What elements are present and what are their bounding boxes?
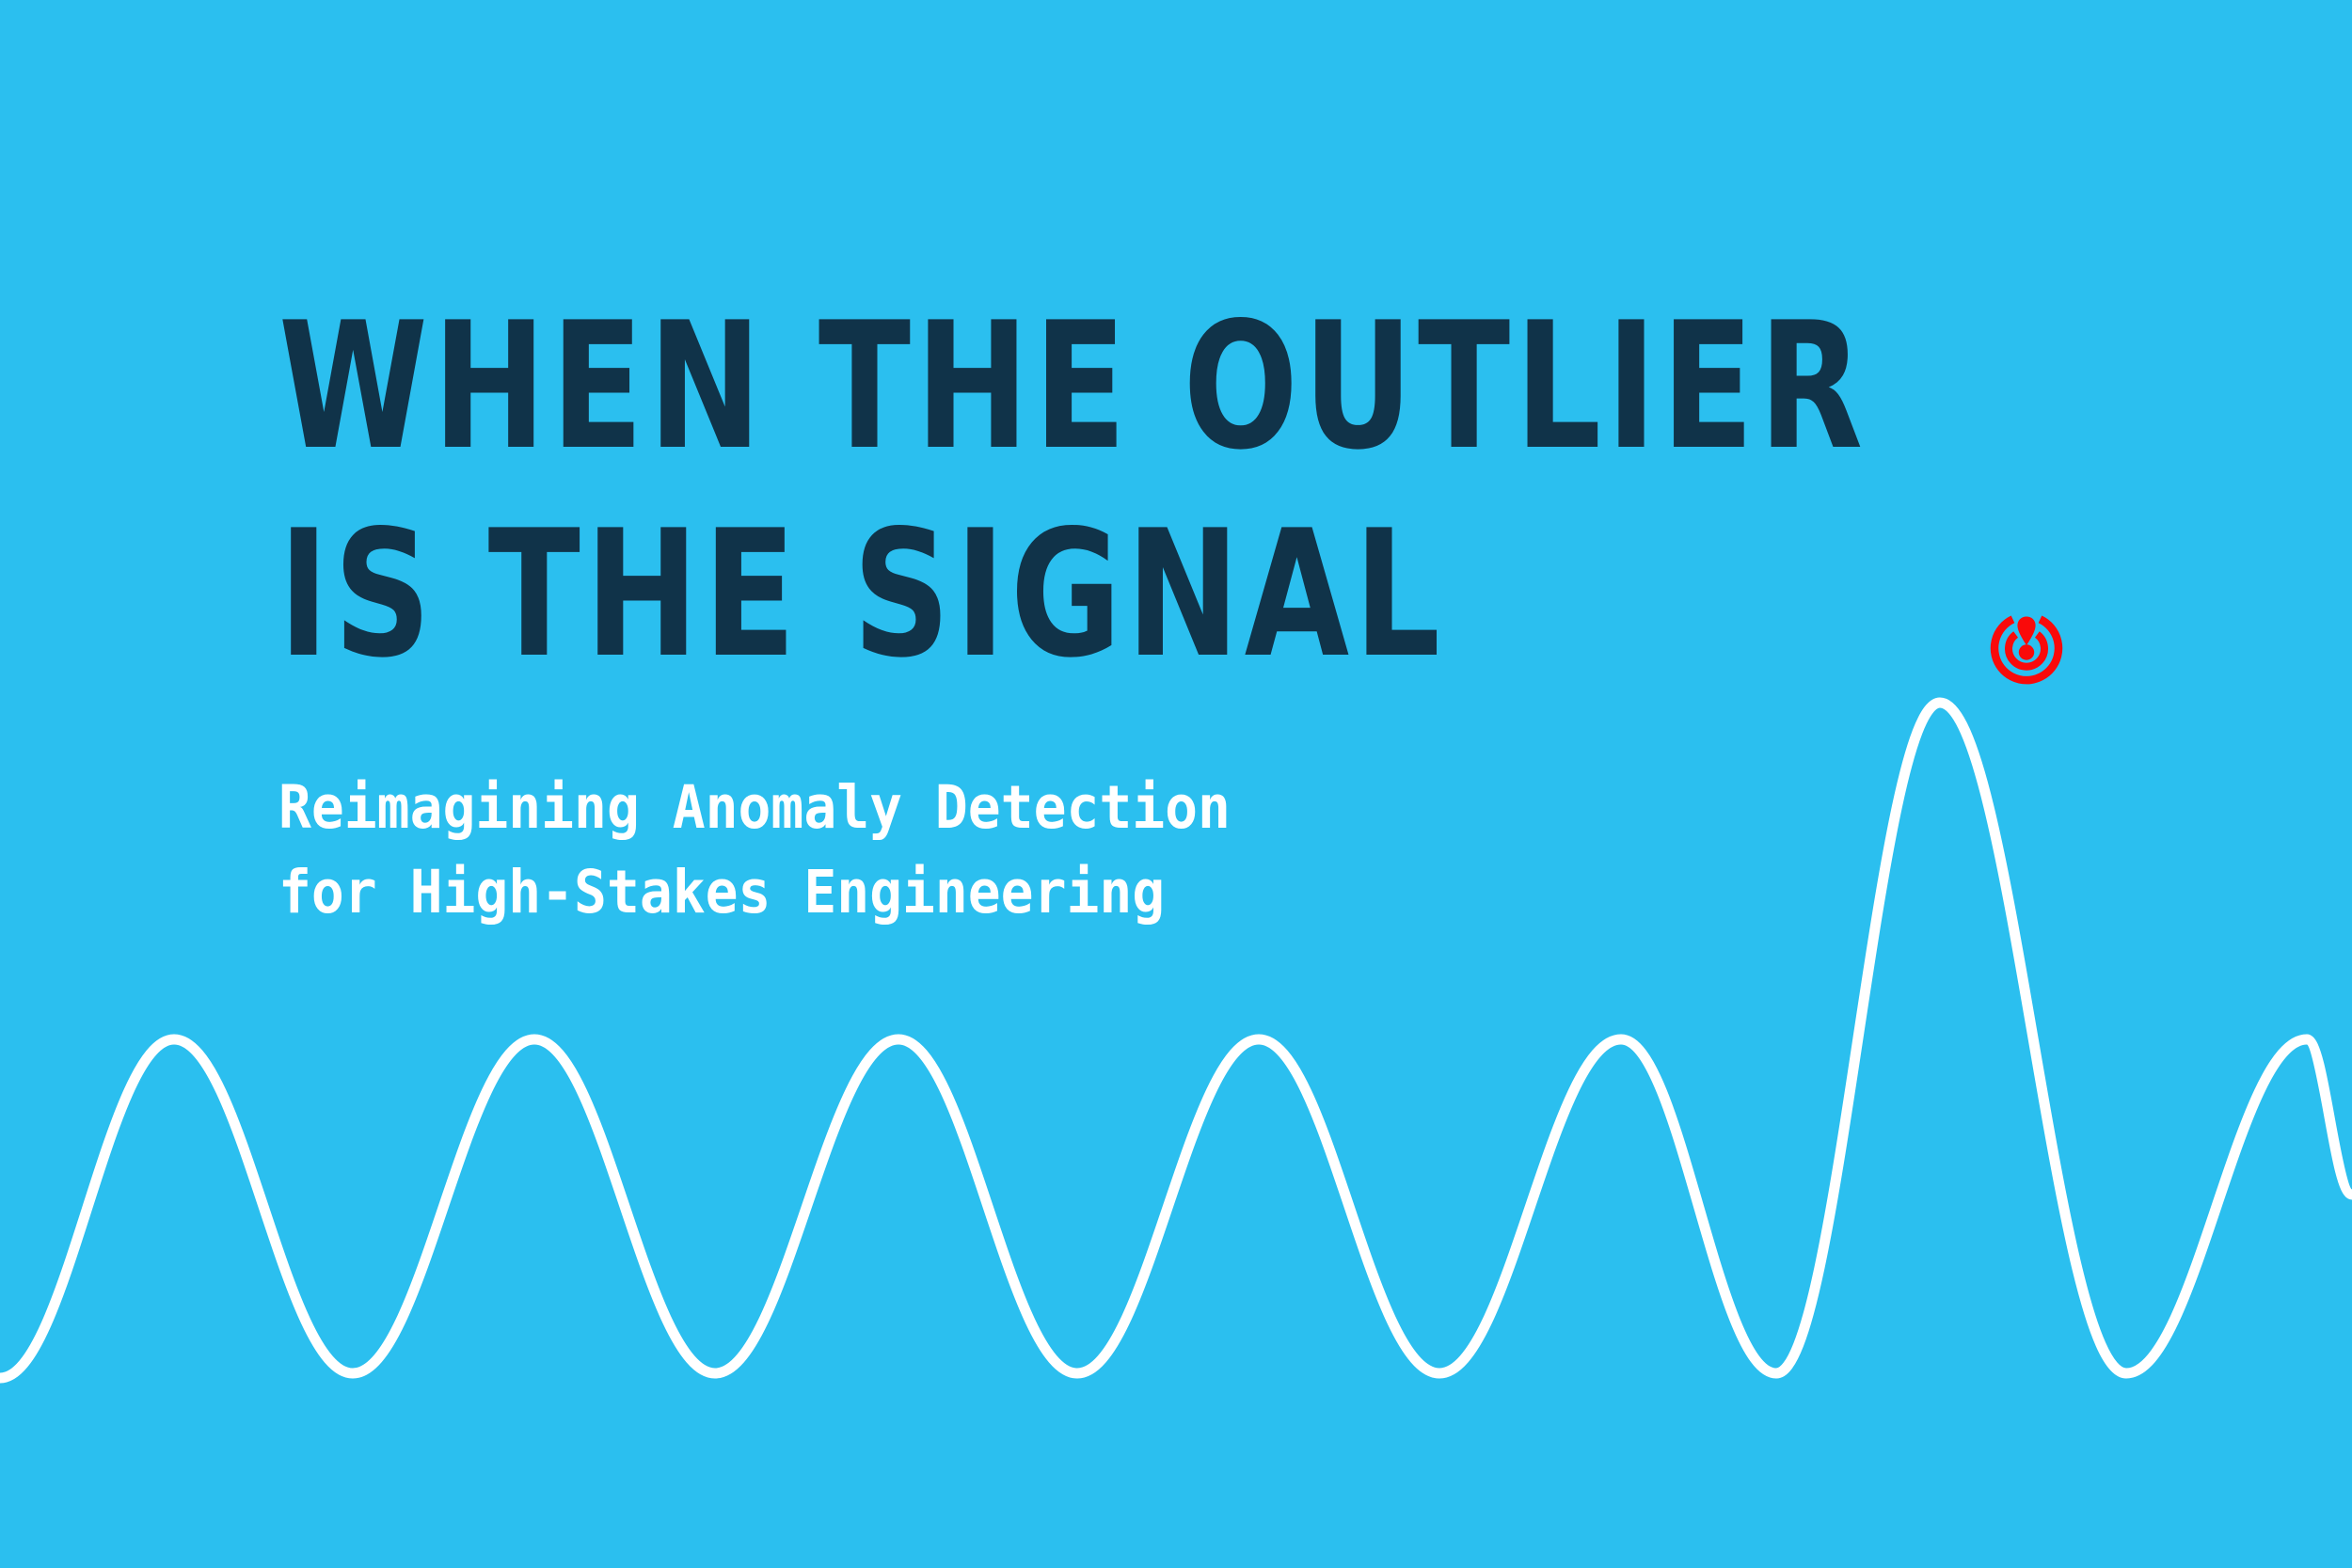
- subhead-line-2: for High-Stakes Engineering: [278, 850, 1750, 935]
- headline-line-2: IS THE SIGNAL: [278, 490, 1654, 698]
- title-block: WHEN THE OUTLIER IS THE SIGNAL Reimagini…: [278, 282, 1878, 935]
- subhead-group: Reimagining Anomaly Detection for High-S…: [278, 766, 1878, 935]
- poster-canvas: WHEN THE OUTLIER IS THE SIGNAL Reimagini…: [0, 0, 2352, 1568]
- anomaly-alert-icon: [1988, 610, 2065, 687]
- anomaly-center-dot: [2019, 644, 2034, 659]
- headline-line-1: WHEN THE OUTLIER: [278, 282, 1654, 490]
- subhead-line-1: Reimagining Anomaly Detection: [278, 766, 1750, 850]
- anomaly-exclamation-icon: [2017, 617, 2035, 646]
